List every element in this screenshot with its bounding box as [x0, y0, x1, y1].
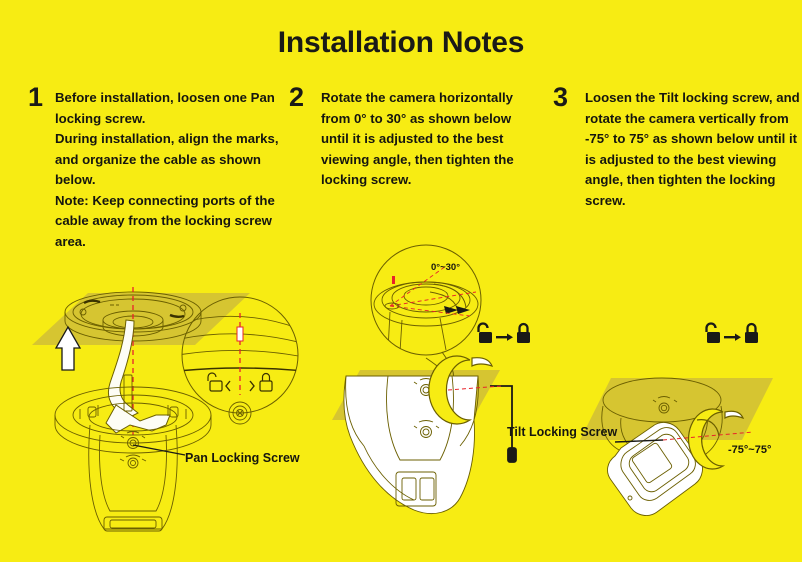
step-3-number: 3 — [553, 84, 568, 111]
pan-angle-label: 0°~30° — [431, 262, 460, 273]
lock-sequence-3 — [705, 322, 761, 351]
screw-head-icon — [229, 402, 251, 424]
chevron-left-icon — [226, 381, 230, 391]
step-2-text: Rotate the camera horizontally from 0° t… — [321, 88, 539, 191]
unlock-icon — [479, 324, 493, 344]
pan-locking-screw-label: Pan Locking Screw — [185, 451, 300, 465]
step-2-number: 2 — [289, 84, 304, 111]
lock-icon — [260, 374, 272, 392]
diagram-ceiling-mount — [20, 265, 310, 555]
step-3: 3 Loosen the Tilt locking screw, and rot… — [553, 88, 801, 211]
diagram-pan-rotation — [330, 240, 570, 540]
lock-icon — [745, 324, 758, 343]
tilt-angle-label: -75°~75° — [728, 444, 771, 456]
installation-notes-page: Installation Notes 1 Before installation… — [0, 0, 802, 562]
diagram-2-svg — [330, 240, 570, 540]
unlock-icon — [707, 324, 721, 344]
arrow-right-icon — [496, 334, 513, 341]
hex-key-tool — [490, 386, 516, 462]
step-1-number: 1 — [28, 84, 43, 111]
unlock-icon — [208, 373, 222, 391]
step-1: 1 Before installation, loosen one Pan lo… — [28, 88, 288, 252]
alignment-mark — [392, 276, 395, 284]
step-2: 2 Rotate the camera horizontally from 0°… — [289, 88, 539, 191]
step-3-text: Loosen the Tilt locking screw, and rotat… — [585, 88, 801, 211]
diagram-1-svg — [20, 265, 310, 555]
step-1-text: Before installation, loosen one Pan lock… — [55, 88, 288, 252]
lock-sequence-2 — [477, 322, 533, 351]
pan-detail-bubble — [371, 245, 481, 382]
lock-icon — [517, 324, 530, 343]
tilt-locking-screw-label: Tilt Locking Screw — [507, 425, 617, 439]
arrow-right-icon — [724, 334, 741, 341]
chevron-right-icon — [250, 381, 254, 391]
camera-body-2 — [344, 376, 478, 514]
page-title: Installation Notes — [0, 26, 802, 60]
detail-circle — [178, 297, 304, 424]
